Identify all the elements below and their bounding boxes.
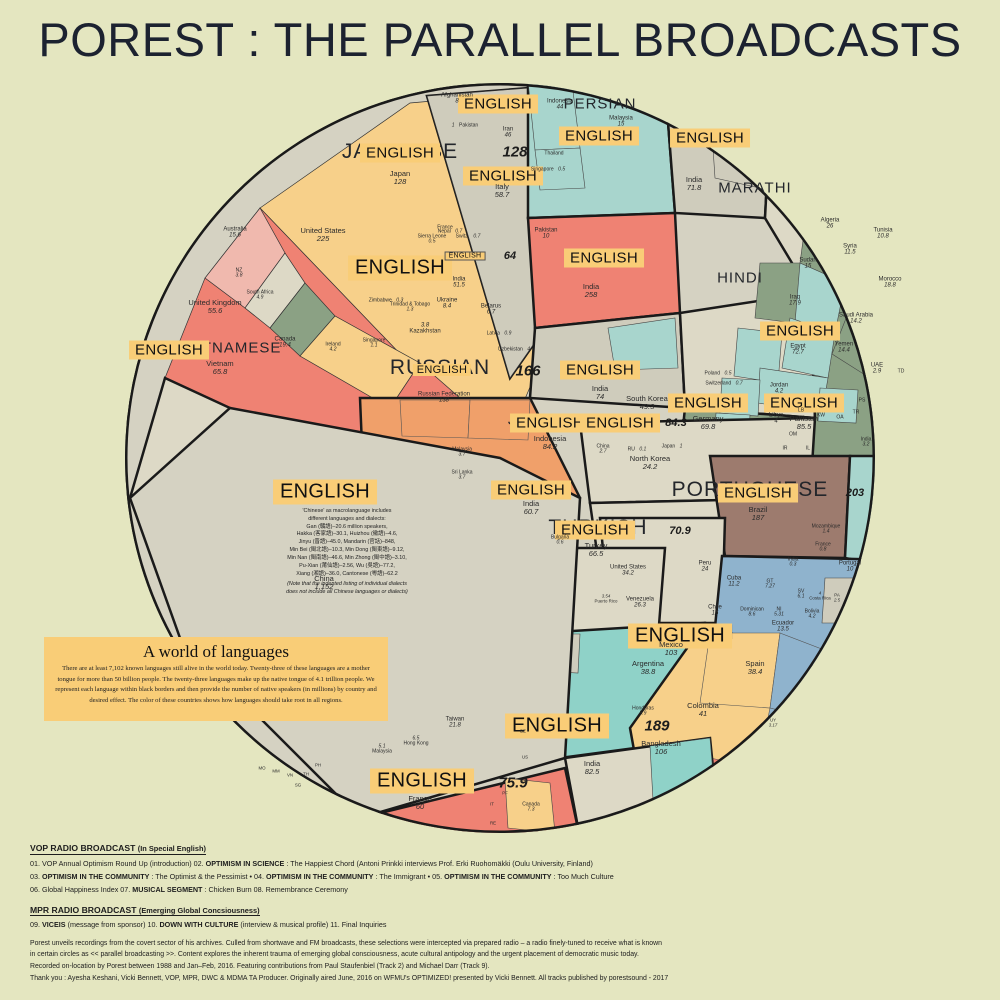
- region-malay-malaysia[interactable]: [710, 103, 770, 188]
- treemap-regions: [125, 81, 890, 838]
- region-spanish-us[interactable]: [700, 633, 780, 708]
- language-total-french: 75.9: [498, 775, 527, 792]
- language-total-turkish: 70.9: [669, 525, 690, 537]
- page-title: POREST : THE PARALLEL BROADCASTS: [0, 12, 1000, 67]
- vop-track-line: 06. Global Happiness Index 07. MUSICAL S…: [30, 884, 975, 895]
- region-russian-ukraine[interactable]: [400, 400, 470, 438]
- vop-heading: VOP RADIO BROADCAST (In Special English): [30, 838, 975, 858]
- country-label: TD: [898, 359, 905, 376]
- region-arabic-jordan[interactable]: [720, 378, 760, 416]
- region-portuguese-portugal[interactable]: [840, 603, 888, 648]
- region-russian-belarus[interactable]: [468, 400, 530, 440]
- mpr-heading: MPR RADIO BROADCAST (Emerging Global Con…: [30, 900, 975, 920]
- region-german[interactable]: [710, 456, 850, 558]
- region-arabic-sudan[interactable]: [755, 263, 800, 323]
- region-italian[interactable]: [528, 213, 680, 328]
- mpr-track-line: 09. VICEIS (message from sponsor) 10. DO…: [30, 919, 975, 930]
- treemap-svg: [110, 78, 890, 838]
- info-card: A world of languages There are at least …: [44, 637, 388, 721]
- language-total-russian: 166: [515, 363, 540, 380]
- language-treemap-chart: JAPANESE 128 MALAY PERSIAN ITALIAN URDU …: [110, 78, 890, 838]
- region-arabic-tunisia[interactable]: [832, 218, 890, 303]
- info-card-body: There are at least 7,102 known languages…: [44, 664, 388, 707]
- vop-track-line: 01. VOP Annual Optimism Round Up (introd…: [30, 858, 975, 869]
- language-total-japanese: 128: [502, 144, 527, 161]
- region-bengali-bangladesh[interactable]: [650, 738, 718, 836]
- region-spanish-ecuador[interactable]: [804, 778, 870, 823]
- vop-track-line: 03. OPTIMISM IN THE COMMUNITY : The Opti…: [30, 871, 975, 882]
- region-spanish-cuba[interactable]: [804, 678, 855, 728]
- language-total-urdu: 64: [504, 250, 516, 262]
- footer-credits: VOP RADIO BROADCAST (In Special English)…: [30, 838, 975, 985]
- region-chinese[interactable]: [130, 408, 580, 818]
- info-card-heading: A world of languages: [44, 637, 388, 664]
- poster-root: POREST : THE PARALLEL BROADCASTS: [0, 0, 1000, 1000]
- language-total-portuguese: 203: [846, 487, 864, 499]
- region-lahnda[interactable]: [845, 456, 890, 568]
- region-arabic-uae[interactable]: [818, 388, 858, 423]
- region-spanish-spain[interactable]: [698, 758, 810, 838]
- language-total-javanese: 84.3: [665, 417, 686, 429]
- region-spanish-chile[interactable]: [804, 733, 850, 778]
- region-persian-pakistan[interactable]: [535, 148, 585, 190]
- language-total-bengali: 189: [644, 718, 669, 735]
- blurb: Porest unveils recordings from the cover…: [30, 938, 975, 986]
